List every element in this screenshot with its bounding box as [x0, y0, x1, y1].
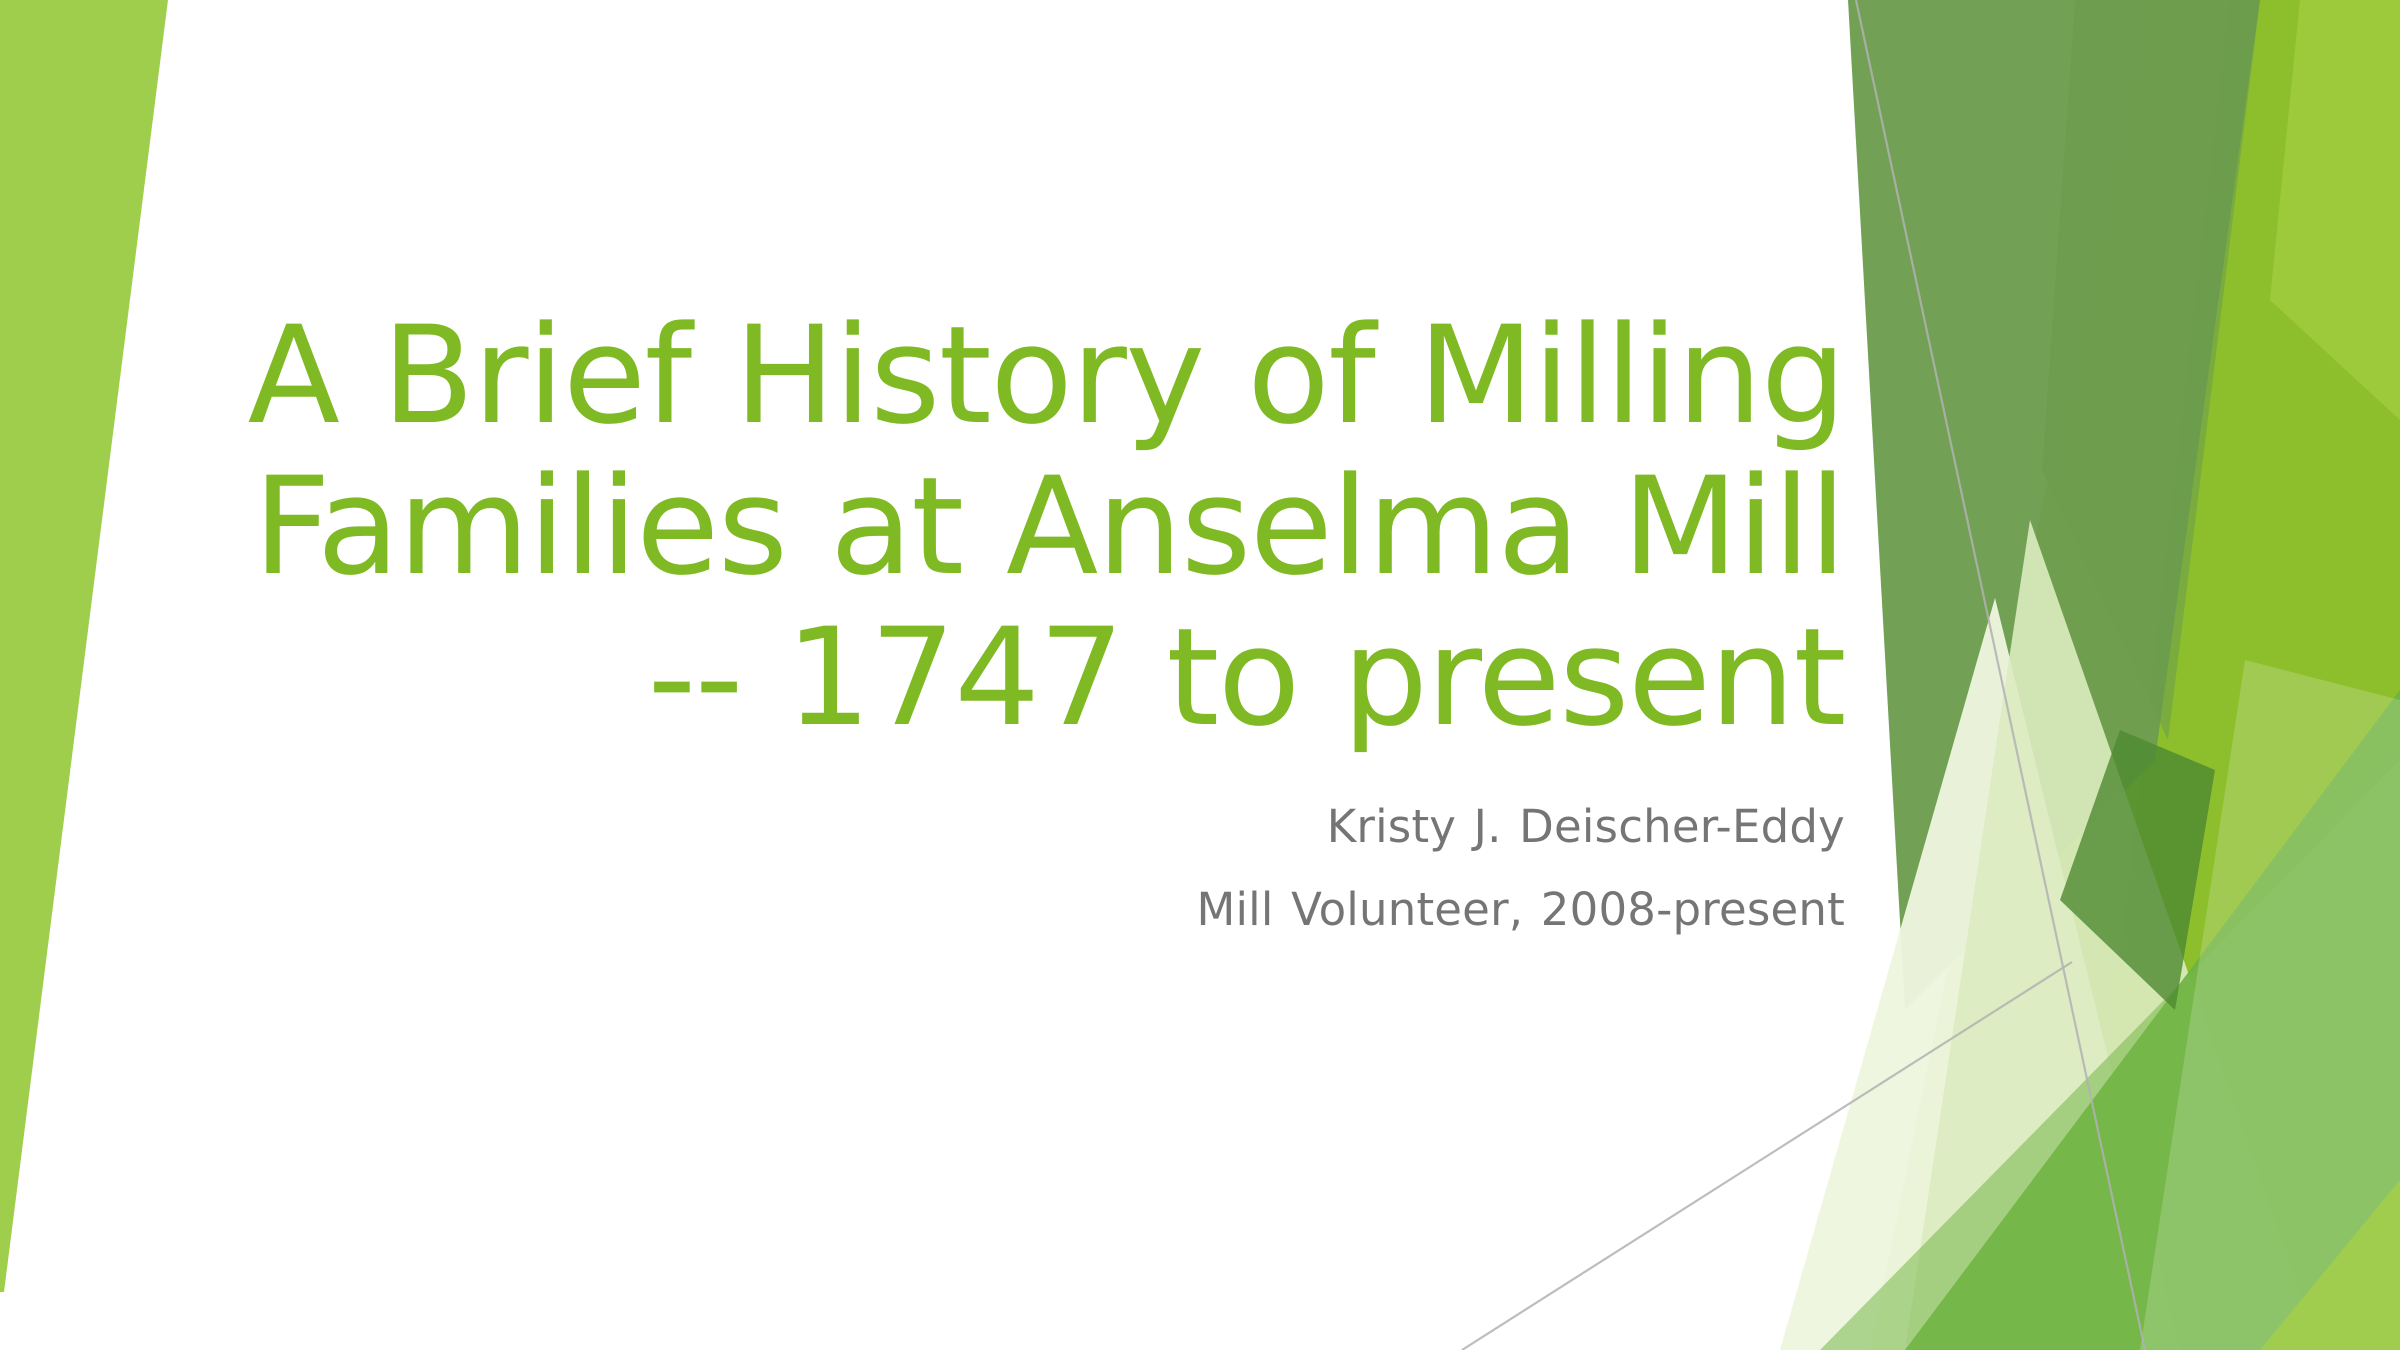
slide-text-layer: A Brief History of Milling Families at A… — [0, 0, 2400, 1350]
subtitle-role: Mill Volunteer, 2008-present — [900, 883, 1845, 938]
subtitle-author: Kristy J. Deischer-Eddy — [900, 800, 1845, 855]
page-title: A Brief History of Milling Families at A… — [200, 300, 1845, 754]
title-placeholder[interactable]: A Brief History of Milling Families at A… — [200, 300, 1845, 754]
subtitle-placeholder[interactable]: Kristy J. Deischer-Eddy Mill Volunteer, … — [900, 800, 1845, 938]
presentation-slide: A Brief History of Milling Families at A… — [0, 0, 2400, 1350]
